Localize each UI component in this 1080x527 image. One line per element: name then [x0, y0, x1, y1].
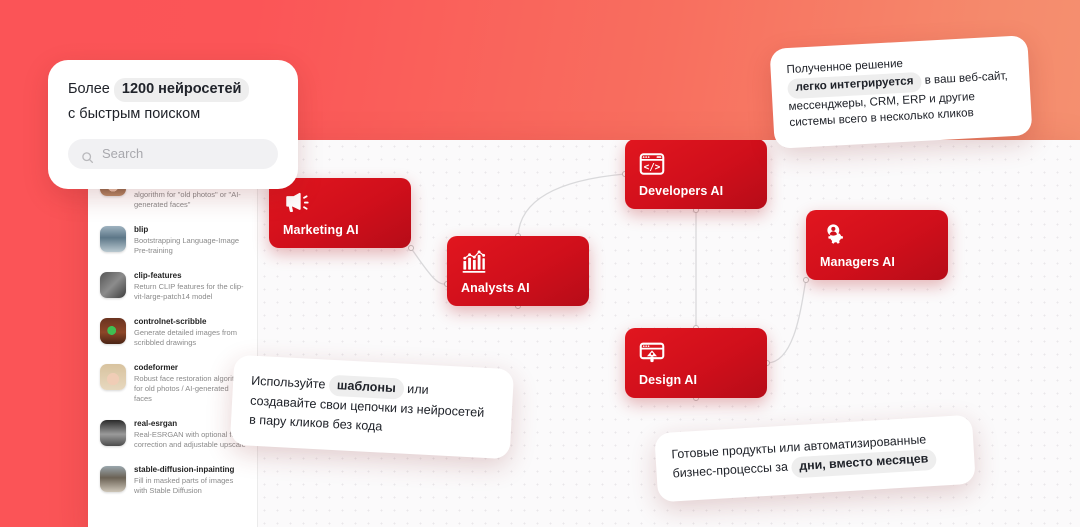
megaphone-icon: [283, 190, 309, 216]
node-developers-ai[interactable]: </> Developers AI: [625, 140, 767, 209]
model-thumbnail: [100, 226, 126, 252]
node-label: Analysts AI: [461, 281, 575, 295]
user-gear-icon: [820, 222, 846, 248]
model-name: blip: [134, 224, 247, 235]
model-description: Bootstrapping Language-Image Pre-trainin…: [134, 236, 247, 256]
search-callout-line1: Более 1200 нейросетей: [68, 78, 278, 102]
search-callout-highlight: 1200 нейросетей: [114, 78, 250, 102]
search-callout-prefix: Более: [68, 81, 110, 97]
integration-callout-card: Полученное решение легко интегрируется в…: [769, 35, 1032, 149]
search-icon: [81, 148, 94, 161]
model-sidebar[interactable]: tagged given text for typed tokens longp…: [88, 140, 258, 527]
model-name: stable-diffusion-inpainting: [134, 464, 247, 475]
edge-port[interactable]: [803, 277, 809, 283]
list-item[interactable]: stable-diffusion-inpainting Fill in mask…: [88, 457, 257, 503]
templates-callout-highlight: шаблоны: [328, 375, 404, 400]
model-thumbnail: [100, 272, 126, 298]
search-callout-line2: с быстрым поиском: [68, 104, 278, 125]
search-input[interactable]: Search: [68, 139, 278, 169]
node-label: Managers AI: [820, 255, 934, 269]
model-description: Fill in masked parts of images with Stab…: [134, 476, 247, 496]
model-description: Generate detailed images from scribbled …: [134, 328, 247, 348]
model-description: Robust face restoration algorithm for ol…: [134, 374, 247, 404]
model-name: codeformer: [134, 362, 247, 373]
node-label: Marketing AI: [283, 223, 397, 237]
node-marketing-ai[interactable]: Marketing AI: [269, 178, 411, 248]
search-callout-card: Более 1200 нейросетей с быстрым поиском …: [48, 60, 298, 189]
model-thumbnail: [100, 364, 126, 390]
model-thumbnail: [100, 318, 126, 344]
model-description: Return CLIP features for the clip-vit-la…: [134, 282, 247, 302]
node-label: Developers AI: [639, 184, 753, 198]
svg-text:</>: </>: [644, 162, 661, 173]
bar-chart-icon: [461, 248, 487, 274]
model-name: clip-features: [134, 270, 247, 281]
edge-port[interactable]: [408, 245, 414, 251]
list-item[interactable]: blip Bootstrapping Language-Image Pre-tr…: [88, 217, 257, 263]
list-item[interactable]: clip-features Return CLIP features for t…: [88, 263, 257, 309]
templates-callout-card: Используйте шаблоны или создавайте свои …: [230, 355, 514, 459]
code-window-icon: </>: [639, 151, 665, 177]
node-design-ai[interactable]: Design AI: [625, 328, 767, 398]
design-window-icon: [639, 340, 665, 366]
model-name: controlnet-scribble: [134, 316, 247, 327]
list-item[interactable]: controlnet-scribble Generate detailed im…: [88, 309, 257, 355]
node-managers-ai[interactable]: Managers AI: [806, 210, 948, 280]
node-analysts-ai[interactable]: Analysts AI: [447, 236, 589, 306]
model-thumbnail: [100, 466, 126, 492]
templates-callout-seg1: Используйте: [251, 374, 326, 392]
model-thumbnail: [100, 420, 126, 446]
ready-callout-highlight: дни, вместо месяцев: [791, 449, 937, 479]
node-label: Design AI: [639, 373, 753, 387]
search-placeholder-text: Search: [102, 145, 143, 164]
